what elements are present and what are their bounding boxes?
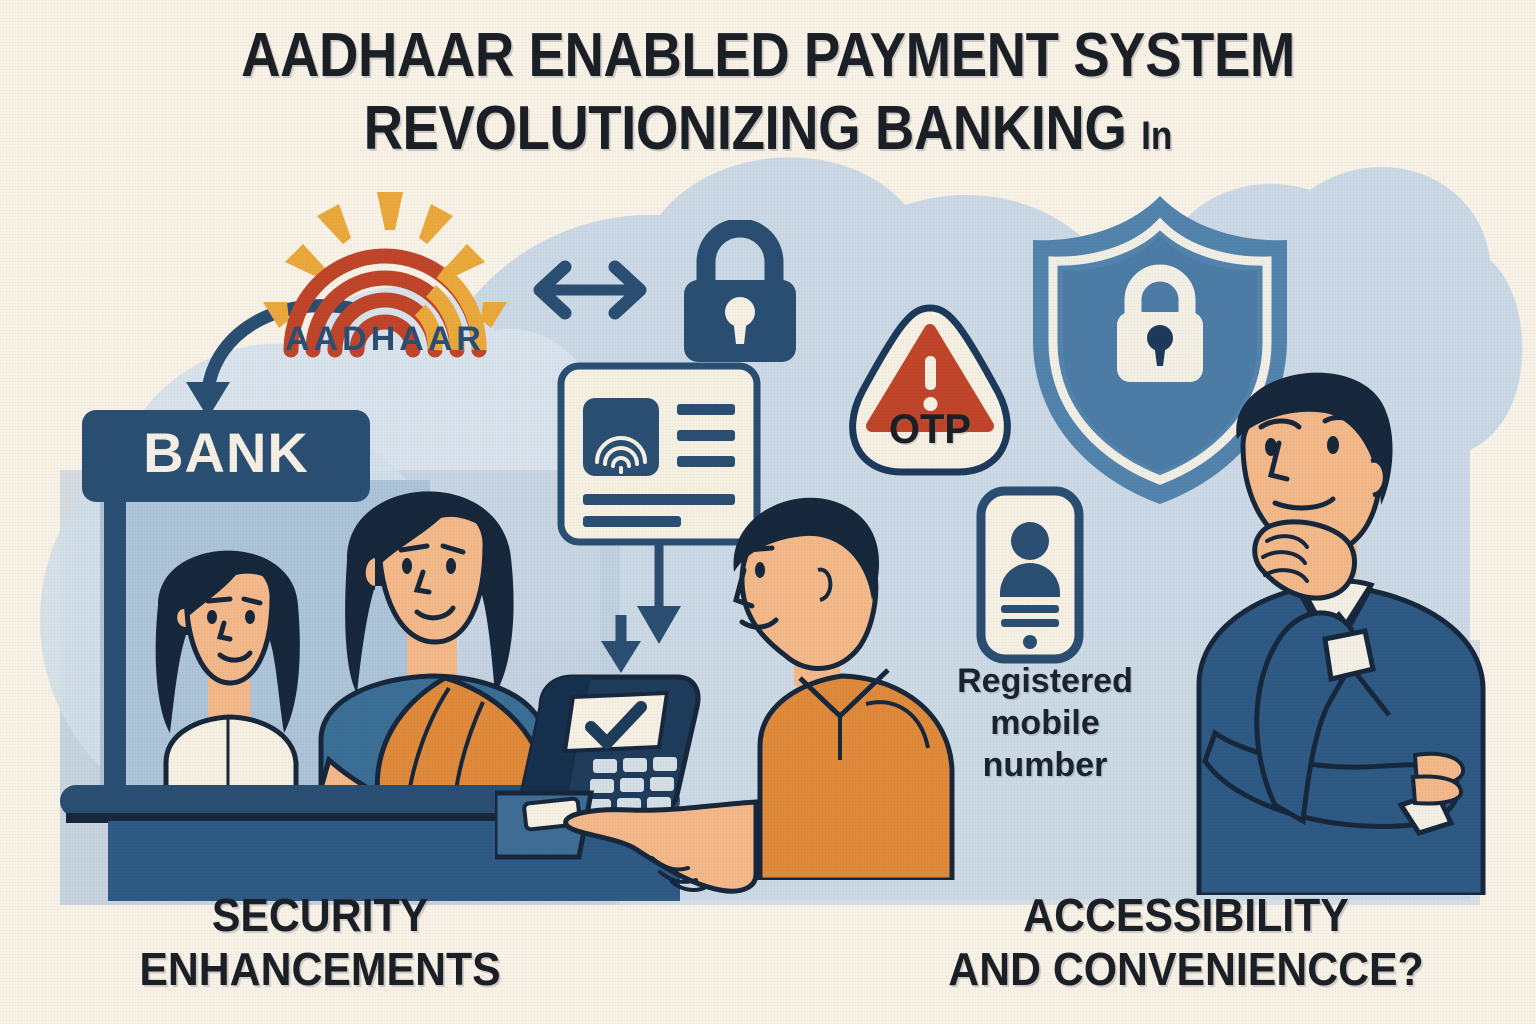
aadhaar-wordmark: AADHAAR [255,320,515,359]
phone-caption-line-2: mobile [990,704,1100,742]
mobile-phone-icon [975,485,1085,665]
pointing-hand [560,790,760,900]
caption-accessibility-line-2: AND CONVENIENCCE? [948,943,1423,995]
title-line-2-main: REVOLUTIONIZING BANKING [364,94,1127,163]
caption-security-line-2: ENHANCEMENTS [139,943,500,995]
poster-canvas: AADHAAR ENABLED PAYMENT SYSTEM REVOLUTIO… [0,0,1536,1024]
caption-accessibility-line-1: ACCESSIBILITY [1023,889,1349,941]
phone-caption-line-3: number [983,746,1108,784]
padlock-icon [670,220,810,370]
caption-security-line-1: SECURITY [212,889,428,941]
title-line-2: REVOLUTIONIZING BANKING In [92,92,1444,173]
otp-badge [830,300,1030,480]
thinking-businessman [1175,335,1515,895]
title-tail: In [1141,114,1172,158]
bidirectional-arrow-icon [525,255,655,325]
title-line-1: AADHAAR ENABLED PAYMENT SYSTEM [92,20,1444,92]
page-title: AADHAAR ENABLED PAYMENT SYSTEM REVOLUTIO… [0,20,1536,173]
caption-security: SECURITY ENHANCEMENTS [78,888,562,996]
bank-sign-label: BANK [96,420,356,485]
otp-badge-label: OTP [835,405,1025,453]
caption-accessibility: ACCESSIBILITY AND CONVENIENCCE? [898,888,1475,996]
